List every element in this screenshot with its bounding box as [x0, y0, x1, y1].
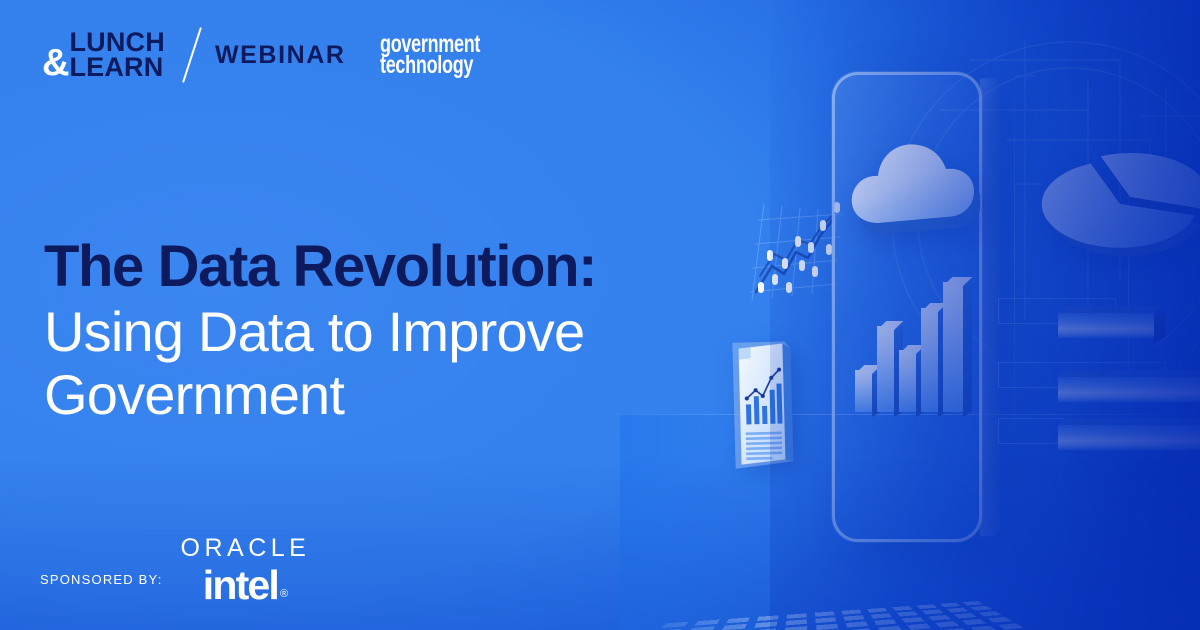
sponsor-logo-group: ORACLE intel ®	[181, 534, 311, 604]
intel-wordmark: intel	[203, 567, 278, 604]
ampersand-glyph: &	[42, 44, 68, 82]
learn-text: LEARN	[69, 55, 165, 80]
sponsor-section: SPONSORED BY: ORACLE intel ®	[40, 534, 310, 604]
slash-divider-icon	[182, 27, 202, 83]
title-line-3: Government	[44, 364, 744, 427]
title-line-2: Using Data to Improve	[44, 301, 744, 364]
oracle-logo: ORACLE	[181, 534, 311, 563]
lunch-and-learn-logo: & LUNCH LEARN	[42, 30, 165, 80]
lunch-learn-wordmark: LUNCH LEARN	[69, 30, 165, 80]
title-line-1: The Data Revolution:	[44, 236, 744, 297]
govtech-line2: technology	[380, 55, 480, 77]
registered-trademark-icon: ®	[280, 588, 288, 600]
government-technology-logo: government technology	[380, 34, 519, 77]
header-logo-bar: & LUNCH LEARN WEBINAR government technol…	[42, 26, 519, 84]
sponsored-by-label: SPONSORED BY:	[40, 572, 163, 587]
webinar-label: WEBINAR	[215, 41, 346, 70]
page-title: The Data Revolution: Using Data to Impro…	[44, 236, 744, 427]
intel-logo: intel ®	[203, 567, 288, 604]
webinar-promo-banner: & LUNCH LEARN WEBINAR government technol…	[0, 0, 1200, 630]
